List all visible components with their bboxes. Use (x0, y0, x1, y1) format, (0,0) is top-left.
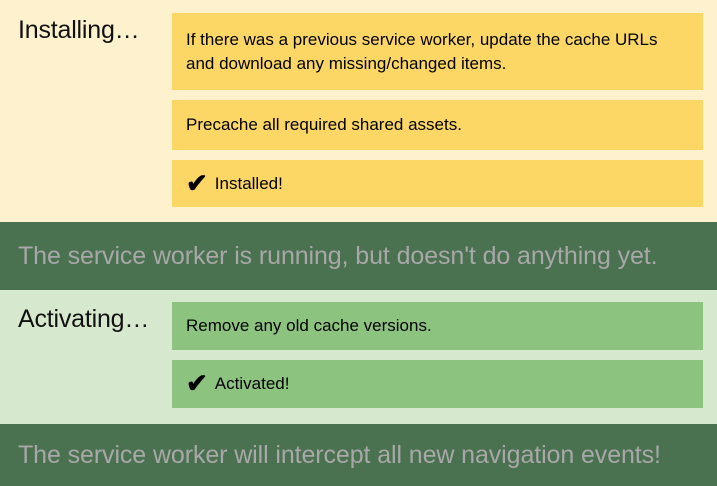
install-complete-text: Installed! (215, 172, 283, 195)
status-banner-intercept-text: The service worker will intercept all ne… (0, 443, 661, 468)
activate-step-text: Remove any old cache versions. (186, 314, 432, 337)
install-complete-item: ✔ Installed! (172, 160, 703, 207)
status-banner-running: The service worker is running, but doesn… (0, 222, 717, 290)
activate-step-item: Remove any old cache versions. (172, 302, 703, 350)
install-step-item: Precache all required shared assets. (172, 100, 703, 150)
install-step-text: Precache all required shared assets. (186, 113, 462, 136)
checkmark-icon: ✔ (186, 170, 208, 196)
activate-complete-item: ✔ Activated! (172, 360, 703, 408)
activate-phase-section: Activating… Remove any old cache version… (0, 290, 717, 424)
activate-phase-label: Activating… (18, 307, 149, 332)
install-phase-label: Installing… (18, 18, 139, 43)
status-banner-intercept: The service worker will intercept all ne… (0, 424, 717, 486)
checkmark-icon: ✔ (186, 370, 208, 396)
service-worker-lifecycle-diagram: Installing… If there was a previous serv… (0, 0, 717, 486)
install-step-list: If there was a previous service worker, … (172, 13, 703, 207)
status-banner-running-text: The service worker is running, but doesn… (0, 244, 658, 269)
install-step-item: If there was a previous service worker, … (172, 13, 703, 90)
install-phase-section: Installing… If there was a previous serv… (0, 0, 717, 222)
activate-step-list: Remove any old cache versions. ✔ Activat… (172, 302, 703, 408)
activate-complete-text: Activated! (215, 372, 290, 395)
install-step-text: If there was a previous service worker, … (186, 28, 689, 75)
